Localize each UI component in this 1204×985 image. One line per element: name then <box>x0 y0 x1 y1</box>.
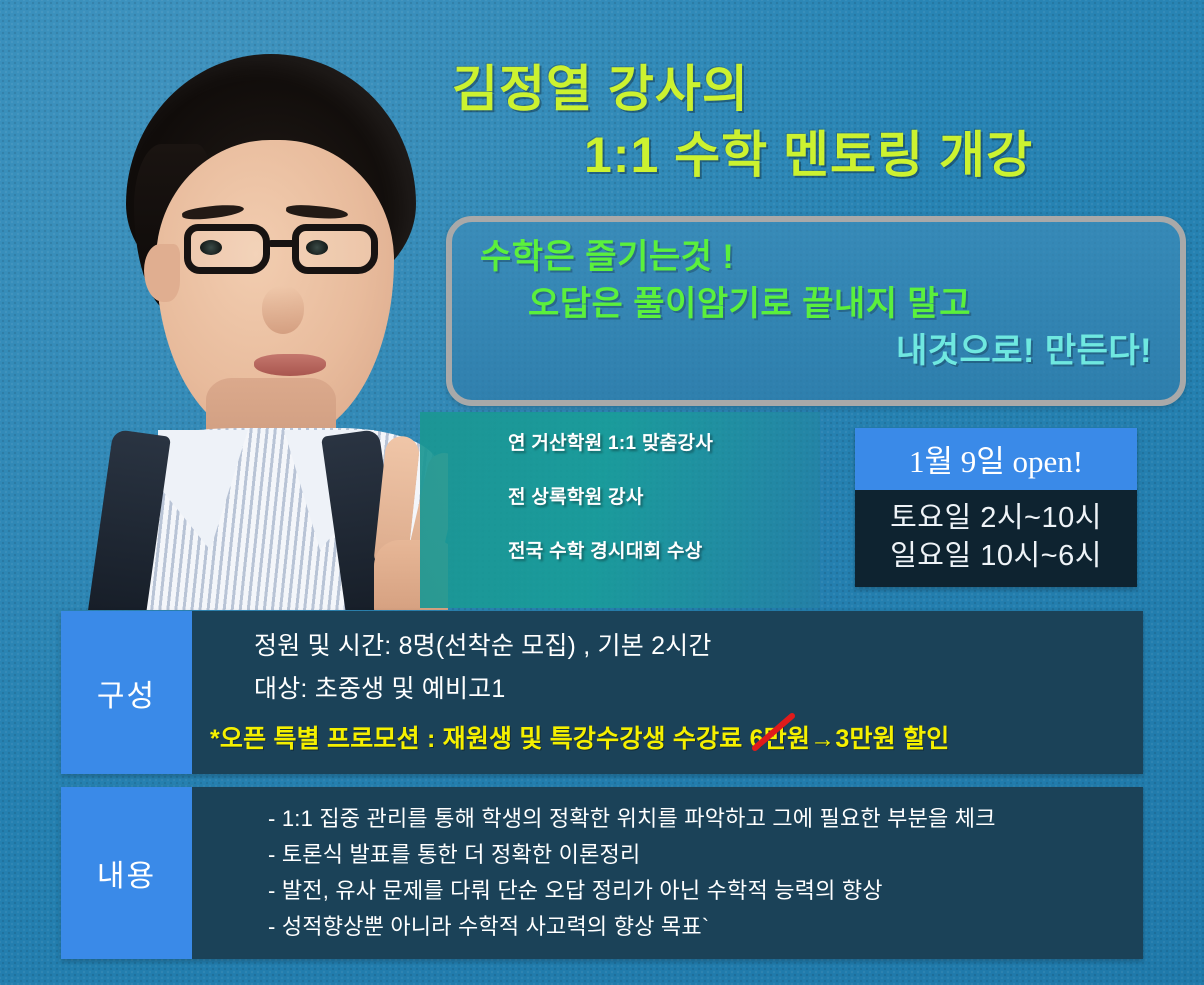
promo-middle-text: 원→ <box>787 725 835 753</box>
slogan-line-1: 수학은 즐기는것 ! <box>474 234 1158 281</box>
credential-item: 전국 수학 경시대회 수상 <box>508 536 713 563</box>
content-bullet: - 발전, 유사 문제를 다뤄 단순 오답 정리가 아닌 수학적 능력의 향상 <box>192 873 1143 909</box>
content-bullet: - 1:1 집중 관리를 통해 학생의 정확한 위치를 파악하고 그에 필요한 … <box>192 801 1143 837</box>
promo-old-price-wrap: 6만 <box>750 719 787 755</box>
glasses-bridge <box>268 240 296 247</box>
mouth-shape <box>254 354 326 376</box>
section-content-label: 내용 <box>61 787 192 959</box>
open-date-badge: 1월 9일 open! <box>855 428 1137 490</box>
compose-line-capacity: 정원 및 시간: 8명(선착순 모집) , 기본 2시간 <box>192 625 1143 668</box>
section-compose-label: 구성 <box>61 611 192 774</box>
compose-promotion-line: *오픈 특별 프로모션 : 재원생 및 특강수강생 수강료 6만원→3만원 할인 <box>192 711 1143 761</box>
glasses-lens-left <box>184 224 270 274</box>
credential-item: 연 거산학원 1:1 맞춤강사 <box>508 428 713 455</box>
section-compose-body: 정원 및 시간: 8명(선착순 모집) , 기본 2시간 대상: 초중생 및 예… <box>192 611 1143 774</box>
content-bullet: - 토론식 발표를 통한 더 정확한 이론정리 <box>192 837 1143 873</box>
section-content-body: - 1:1 집중 관리를 통해 학생의 정확한 위치를 파악하고 그에 필요한 … <box>192 787 1143 959</box>
photo-illustration <box>48 48 448 610</box>
section-compose: 구성 정원 및 시간: 8명(선착순 모집) , 기본 2시간 대상: 초중생 … <box>61 611 1143 774</box>
section-content: 내용 - 1:1 집중 관리를 통해 학생의 정확한 위치를 파악하고 그에 필… <box>61 787 1143 959</box>
eye-left <box>200 240 222 255</box>
content-bullet: - 성적향상뿐 아니라 수학적 사고력의 향상 목표` <box>192 909 1143 945</box>
glasses-lens-right <box>292 224 378 274</box>
schedule-row: 일요일 10시~6시 <box>855 538 1137 576</box>
schedule-hours: 토요일 2시~10시 일요일 10시~6시 <box>855 490 1137 587</box>
nose-shape <box>262 286 304 334</box>
poster-root: 김정열 강사의 1:1 수학 멘토링 개강 수학은 즐기는것 ! 오답은 풀이암… <box>0 0 1204 985</box>
promo-new-price: 3만원 <box>835 725 896 753</box>
title-line-2: 1:1 수학 멘토링 개강 <box>430 122 1170 188</box>
slogan-box: 수학은 즐기는것 ! 오답은 풀이암기로 끝내지 말고 내것으로! 만든다! <box>446 216 1186 406</box>
credentials-list: 연 거산학원 1:1 맞춤강사 전 상록학원 강사 전국 수학 경시대회 수상 <box>508 428 713 590</box>
glasses-icon <box>160 218 408 280</box>
promo-prefix-text: *오픈 특별 프로모션 : 재원생 및 특강수강생 수강료 <box>210 725 750 753</box>
instructor-photo <box>48 48 448 610</box>
compose-line-target: 대상: 초중생 및 예비고1 <box>192 668 1143 711</box>
promo-old-price: 6만 <box>750 725 787 753</box>
page-title: 김정열 강사의 1:1 수학 멘토링 개강 <box>430 56 1170 188</box>
slogan-line-2: 오답은 풀이암기로 끝내지 말고 <box>474 281 1158 328</box>
schedule-row: 토요일 2시~10시 <box>855 500 1137 538</box>
title-line-1: 김정열 강사의 <box>430 56 1170 122</box>
eye-right <box>306 240 328 255</box>
promo-suffix-text: 할인 <box>896 725 950 753</box>
credential-item: 전 상록학원 강사 <box>508 482 713 509</box>
schedule-box: 1월 9일 open! 토요일 2시~10시 일요일 10시~6시 <box>855 428 1137 587</box>
slogan-line-3: 내것으로! 만든다! <box>474 328 1158 375</box>
